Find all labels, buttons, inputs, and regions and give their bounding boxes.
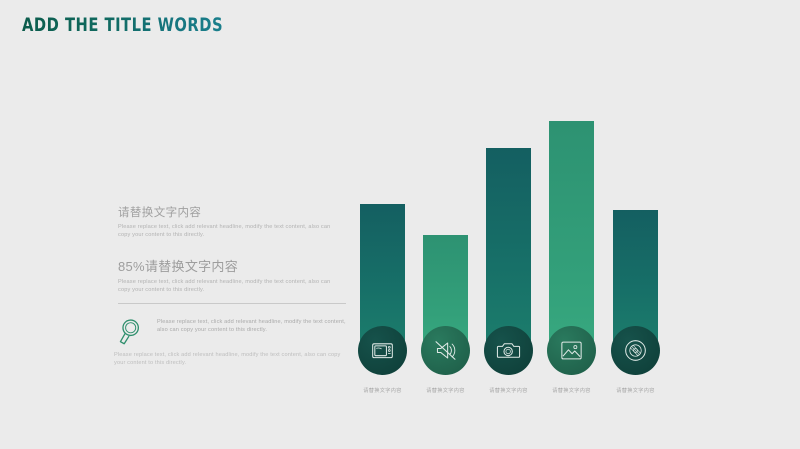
- text-block-2: 85%请替换文字内容 Please replace text, click ad…: [118, 256, 350, 294]
- bar-icon-circle[interactable]: [611, 326, 660, 375]
- block1-heading: 请替换文字内容: [118, 204, 350, 220]
- text-block-1: 请替换文字内容 Please replace text, click add r…: [118, 204, 350, 239]
- divider: [118, 303, 346, 304]
- bar-column[interactable]: 50% 请替换文字内容: [360, 120, 405, 375]
- bar-category-label: 请替换文字内容: [537, 387, 606, 395]
- bar-category-label: 请替换文字内容: [474, 387, 543, 395]
- bar-icon-circle[interactable]: [547, 326, 596, 375]
- block2-heading: 85%请替换文字内容: [118, 256, 350, 275]
- bar-icon-circle[interactable]: [358, 326, 407, 375]
- bar-icon-circle[interactable]: [484, 326, 533, 375]
- block1-body: Please replace text, click add relevant …: [118, 223, 343, 239]
- feature-text: Please replace text, click add relevant …: [157, 314, 347, 335]
- bar-category-label: 请替换文字内容: [601, 387, 670, 395]
- disc-icon: [623, 338, 648, 363]
- image-icon: [559, 338, 584, 363]
- tv-icon: [370, 338, 395, 363]
- feature-row: Please replace text, click add relevant …: [118, 314, 350, 346]
- bar-column[interactable]: 82% 请替换文字内容: [486, 120, 531, 375]
- bar-column[interactable]: 96% 请替换文字内容: [549, 120, 594, 375]
- bar-category-label: 请替换文字内容: [348, 387, 417, 395]
- slide-canvas: ADD THE TITLE WORDS 请替换文字内容 Please repla…: [0, 0, 800, 449]
- left-text-panel: 请替换文字内容 Please replace text, click add r…: [118, 204, 350, 294]
- bar-column[interactable]: 46% 请替换文字内容: [613, 120, 658, 375]
- bar-icon-circle[interactable]: [421, 326, 470, 375]
- speaker-icon: [433, 338, 458, 363]
- camera-icon: [496, 338, 521, 363]
- bar-category-label: 请替换文字内容: [411, 387, 480, 395]
- bar-rect: [549, 121, 594, 347]
- footer-paragraph: Please replace text, click add relevant …: [114, 351, 349, 368]
- bar-rect: [486, 148, 531, 347]
- magnifier-icon: [118, 316, 148, 346]
- block2-body: Please replace text, click add relevant …: [118, 278, 343, 294]
- bar-chart: 50% 请替换文字内容 35%: [355, 120, 700, 375]
- bar-column[interactable]: 35% 请替换文字内容: [423, 120, 468, 375]
- page-title: ADD THE TITLE WORDS: [22, 14, 223, 36]
